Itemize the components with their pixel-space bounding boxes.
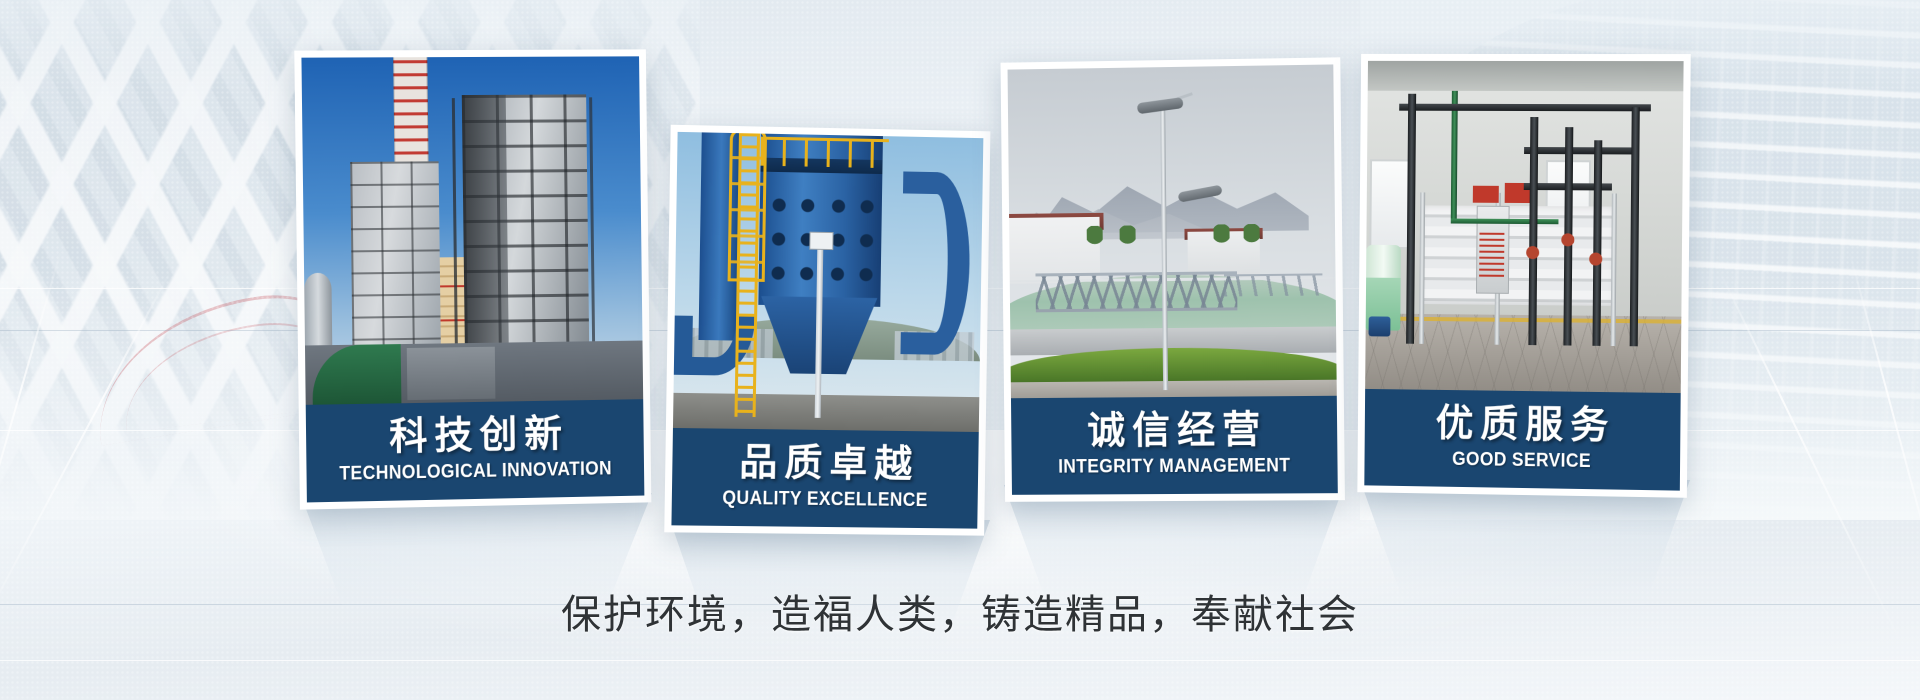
vertical-pipe bbox=[1630, 107, 1640, 346]
dosing-pump bbox=[1369, 317, 1391, 337]
warning-sign bbox=[1473, 186, 1498, 203]
green-pipe-horizontal bbox=[1451, 219, 1558, 225]
tree bbox=[1214, 225, 1230, 247]
banner-tagline: 保护环境，造福人类，铸造精品，奉献社会 bbox=[0, 582, 1920, 640]
panel-photo-power-plant bbox=[301, 56, 643, 405]
panel-title-en: GOOD SERVICE bbox=[1382, 448, 1661, 474]
vertical-pipe bbox=[1406, 94, 1416, 344]
panel-title-cn: 优质服务 bbox=[1371, 403, 1675, 448]
overhead-pipe bbox=[1399, 104, 1652, 112]
control-indicators bbox=[1479, 232, 1505, 278]
panel-title-cn: 科技创新 bbox=[312, 413, 638, 460]
panel-photo-wastewater-plant bbox=[1008, 64, 1337, 398]
overhead-pipe bbox=[1524, 147, 1638, 154]
tree bbox=[1087, 226, 1103, 248]
values-banner: 科技创新 TECHNOLOGICAL INNOVATION bbox=[0, 0, 1920, 700]
panel-title-en: TECHNOLOGICAL INNOVATION bbox=[326, 458, 626, 486]
pathway bbox=[1011, 379, 1337, 398]
tree bbox=[1119, 226, 1135, 248]
access-ladder bbox=[735, 133, 761, 417]
value-panel-good-service[interactable]: 优质服务 GOOD SERVICE bbox=[1357, 54, 1690, 498]
panel-title-cn: 诚信经营 bbox=[1017, 410, 1331, 453]
panel-caption: 科技创新 TECHNOLOGICAL INNOVATION bbox=[306, 399, 645, 502]
panel-title-cn: 品质卓越 bbox=[678, 442, 972, 487]
control-gauge bbox=[809, 232, 833, 250]
platform-railing bbox=[760, 137, 889, 169]
boiler-tower-shadow bbox=[462, 95, 509, 375]
value-panel-technological-innovation[interactable]: 科技创新 TECHNOLOGICAL INNOVATION bbox=[294, 49, 651, 509]
clarifier-bridge bbox=[1036, 271, 1238, 312]
valve-handwheel bbox=[1561, 233, 1574, 246]
vertical-pipe bbox=[1592, 140, 1602, 345]
panel-photo-ro-water-treatment bbox=[1365, 61, 1683, 393]
ceiling bbox=[1368, 61, 1684, 91]
panel-caption: 诚信经营 INTEGRITY MANAGEMENT bbox=[1011, 396, 1338, 495]
equipment-housing bbox=[407, 347, 496, 400]
panel-caption: 品质卓越 QUALITY EXCELLENCE bbox=[671, 428, 978, 529]
panel-caption: 优质服务 GOOD SERVICE bbox=[1364, 389, 1680, 491]
value-panel-quality-excellence[interactable]: 品质卓越 QUALITY EXCELLENCE bbox=[664, 125, 990, 536]
panel-photo-dust-collector bbox=[673, 132, 983, 432]
vertical-pipe bbox=[1529, 117, 1539, 345]
walkway bbox=[1224, 273, 1322, 296]
value-panel-integrity-management[interactable]: 诚信经营 INTEGRITY MANAGEMENT bbox=[1001, 57, 1345, 502]
panel-title-en: QUALITY EXCELLENCE bbox=[690, 487, 961, 512]
tree bbox=[1243, 224, 1259, 246]
valve-handwheel bbox=[1526, 246, 1539, 259]
ground bbox=[673, 392, 979, 432]
panel-title-en: INTEGRITY MANAGEMENT bbox=[1030, 455, 1319, 479]
